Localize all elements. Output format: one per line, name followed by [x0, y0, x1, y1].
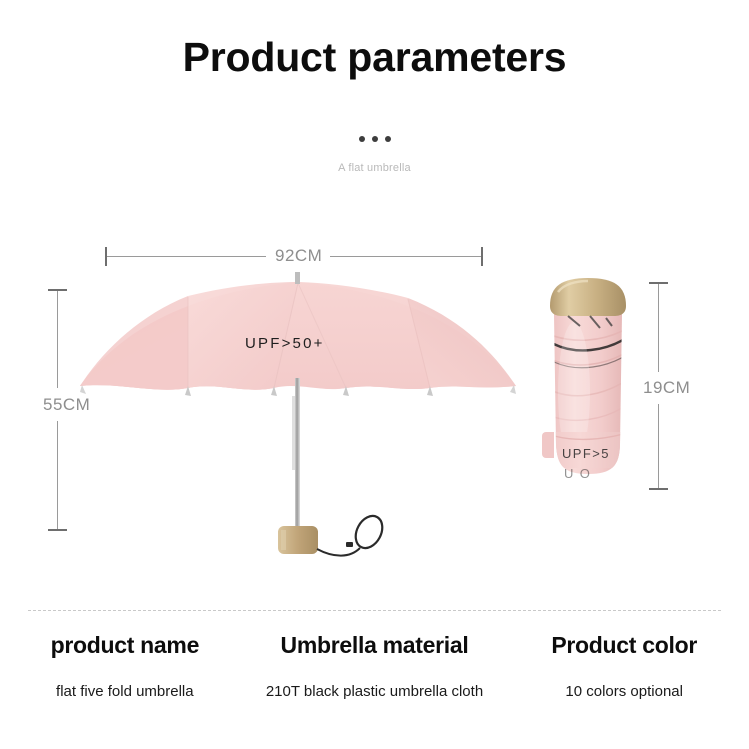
- width-dimension-label: 92CM: [268, 246, 329, 266]
- width-dimension-line-left: [106, 256, 266, 257]
- dot-icon: [372, 136, 378, 142]
- width-dimension-line-right: [330, 256, 482, 257]
- spec-header: Umbrella material: [250, 632, 500, 659]
- open-height-dimension-cap-top: [48, 289, 67, 291]
- spec-table: product name flat five fold umbrella Umb…: [0, 632, 749, 700]
- spec-column-product-color: Product color 10 colors optional: [499, 632, 749, 700]
- folded-height-dimension-line-bottom: [658, 404, 659, 489]
- dot-icon: [385, 136, 391, 142]
- folded-umbrella-cap: [550, 278, 626, 316]
- product-parameters-page: Product parameters A flat umbrella: [0, 0, 749, 749]
- decorative-dots: [0, 134, 749, 144]
- spec-header: product name: [0, 632, 250, 659]
- open-height-dimension-line-top: [57, 291, 58, 388]
- width-dimension-cap-left: [105, 247, 107, 266]
- open-height-dimension-label: 55CM: [36, 395, 97, 415]
- spec-header: Product color: [499, 632, 749, 659]
- open-height-dimension-cap-bottom: [48, 529, 67, 531]
- open-height-dimension-line-bottom: [57, 421, 58, 529]
- page-title: Product parameters: [0, 34, 749, 81]
- dot-icon: [359, 136, 365, 142]
- canopy-upf-print: UPF>50+: [245, 335, 325, 352]
- folded-umbrella-tab: [542, 432, 554, 458]
- umbrella-handle: [278, 526, 318, 554]
- spec-column-product-name: product name flat five fold umbrella: [0, 632, 250, 700]
- folded-height-dimension-cap-top: [649, 282, 668, 284]
- spec-value: 10 colors optional: [499, 683, 749, 700]
- folded-umbrella-upf-print: UPF>5: [562, 446, 610, 461]
- folded-height-dimension-cap-bottom: [649, 488, 668, 490]
- folded-umbrella-image: UPF>5 U O: [528, 272, 648, 502]
- spec-value: flat five fold umbrella: [0, 683, 250, 700]
- umbrella-finial: [295, 272, 300, 284]
- umbrella-shaft: [292, 378, 300, 530]
- folded-height-dimension-label: 19CM: [636, 378, 697, 398]
- page-subtitle: A flat umbrella: [0, 162, 749, 174]
- wrist-strap: [317, 511, 388, 555]
- spec-value: 210T black plastic umbrella cloth: [250, 683, 500, 700]
- folded-height-dimension-line-top: [658, 284, 659, 372]
- section-divider: [28, 610, 721, 611]
- open-umbrella-image: [78, 268, 518, 573]
- spec-column-umbrella-material: Umbrella material 210T black plastic umb…: [250, 632, 500, 700]
- svg-text:U O: U O: [564, 466, 591, 481]
- width-dimension-cap-right: [481, 247, 483, 266]
